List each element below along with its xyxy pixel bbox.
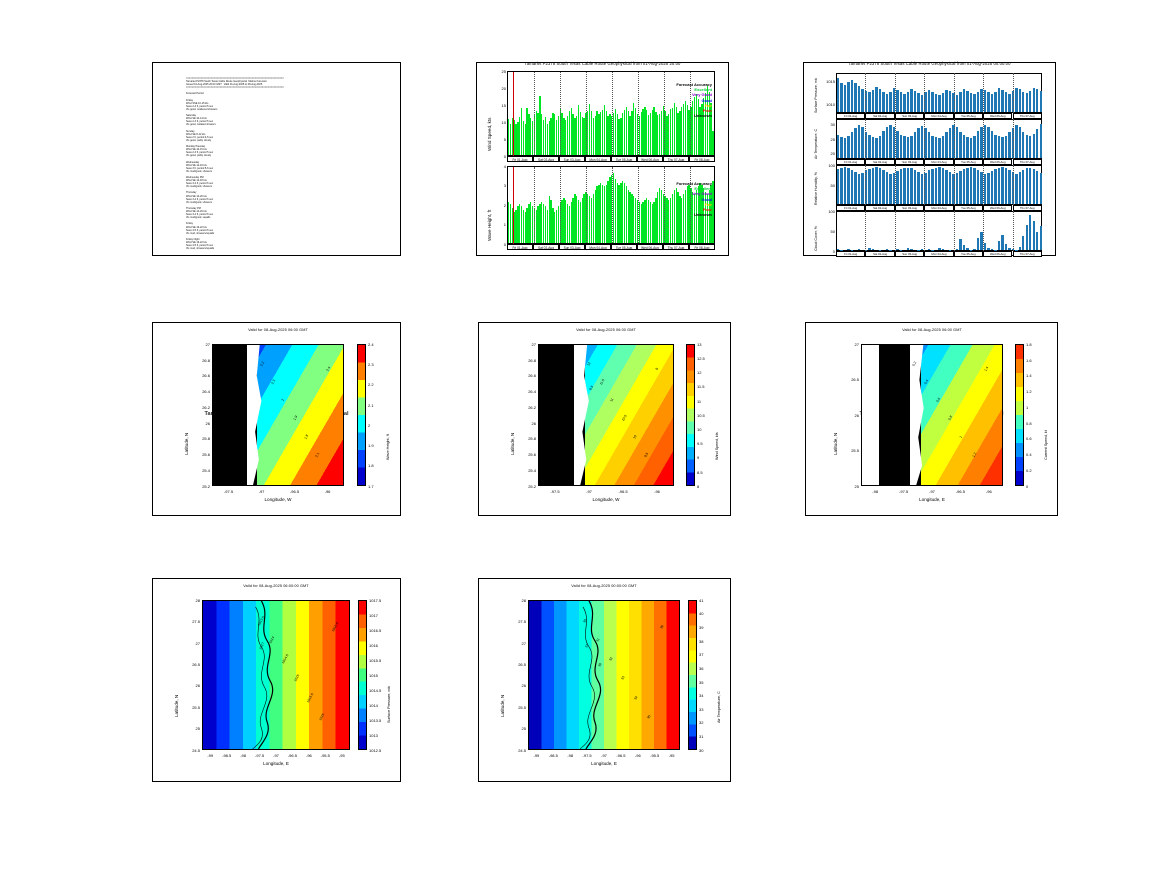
colorbar-tick: 9.5 (697, 441, 703, 446)
bar (837, 169, 839, 204)
bar (837, 78, 839, 112)
bar (844, 85, 846, 112)
ytick: 24.5 (512, 748, 526, 753)
relative-humidity-chart-ylabel: Relative Humidity, % (814, 172, 818, 205)
bar (938, 167, 940, 204)
day-divider (865, 119, 866, 159)
xtick: -97 (581, 489, 597, 494)
surface-pressure-chart (836, 73, 1042, 113)
bar (851, 170, 853, 204)
ytick: 1015 (819, 79, 835, 84)
wind-speed-axes: Forecast Accuracy Excellent Very Good Go… (507, 71, 715, 156)
bar (861, 173, 863, 204)
bar (1015, 88, 1017, 112)
day-divider (895, 119, 896, 159)
colorbar-tick: 2 (368, 423, 370, 428)
xtick: -96.5 (613, 753, 629, 758)
bar (840, 168, 842, 204)
colorbar-tick: 11.5 (697, 384, 705, 389)
day-label-box: Mon 04-Aug (585, 156, 611, 162)
bar (963, 135, 965, 158)
bar (970, 93, 972, 112)
bar (854, 128, 856, 158)
wind-speed-map-title: Valid for 08-Aug-2025 06:00 GMT (508, 328, 704, 332)
bar (998, 136, 1000, 158)
bar (1026, 93, 1028, 112)
day-label-box: Fri 01-Aug (507, 156, 533, 162)
forecast-accuracy-legend-wave: Forecast Accuracy Excellent Very Good Go… (652, 181, 712, 217)
day-divider (954, 211, 955, 251)
ytick: 26.2 (196, 405, 210, 410)
xtick: -97 (254, 489, 270, 494)
bar (907, 248, 909, 250)
bar (949, 91, 951, 112)
xtick: -96.5 (287, 489, 303, 494)
ytick: 27 (196, 342, 210, 347)
bar (886, 94, 888, 112)
bar (858, 249, 860, 250)
ytick: 25.2 (196, 484, 210, 489)
bar (1001, 235, 1003, 250)
colorbar-tick: 1.9 (368, 443, 374, 448)
day-divider (865, 165, 866, 205)
bar (973, 168, 975, 204)
day-divider (924, 73, 925, 113)
ytick: 25.6 (522, 452, 536, 457)
bar (928, 132, 930, 158)
ytick: 26.5 (845, 377, 859, 382)
wind-speed-map-colorbar (686, 344, 695, 486)
xtick: -97.5 (221, 489, 237, 494)
ytick: 25 (495, 69, 506, 74)
day-label-box: Sun 03-Aug (895, 251, 924, 257)
day-label-box: Mon 04-Aug (924, 251, 953, 257)
ytick: 26 (512, 683, 526, 688)
bar (963, 245, 965, 250)
ytick: 26.2 (522, 405, 536, 410)
ytick: 25.5 (845, 448, 859, 453)
bar (998, 88, 1000, 112)
wave-height-axes: Forecast Accuracy Excellent Very Good Go… (507, 166, 715, 244)
bar (928, 249, 930, 250)
ytick: 26 (522, 421, 536, 426)
day-label-box: Thu 07-Aug (1013, 159, 1042, 165)
colorbar-tick: 10 (697, 427, 701, 432)
wind-speed-map-xlabel: Longitude, W (538, 497, 674, 502)
colorbar-tick: 40 (699, 611, 703, 616)
ytick: 26 (186, 683, 200, 688)
bar (1033, 88, 1035, 112)
colorbar-tick: 1017.5 (369, 598, 381, 603)
day-label-box: Thu 07-Aug (663, 156, 689, 162)
air-temperature-map-xlabel: Longitude, E (528, 761, 680, 766)
bar (991, 249, 993, 250)
bar (1022, 92, 1024, 112)
bar (886, 249, 888, 250)
xtick: -97 (268, 753, 284, 758)
bar (1026, 225, 1028, 250)
xtick: -98 (562, 753, 578, 758)
ytick: 25.2 (522, 484, 536, 489)
day-divider (1013, 165, 1014, 205)
xtick: -96.5 (284, 753, 300, 758)
day-divider (1013, 73, 1014, 113)
bar (991, 94, 993, 112)
colorbar-tick: 1016 (369, 643, 378, 648)
bar (837, 135, 839, 158)
colorbar-tick: 10.5 (697, 413, 705, 418)
bar (854, 83, 856, 112)
bar (942, 168, 944, 204)
bar (896, 131, 898, 158)
day-label-box: Fri 01-Aug (507, 244, 533, 250)
current-speed-map-title: Valid for 08-Aug-2025 06:00 GMT (831, 328, 1033, 332)
legend-item-unknown-2: Unknown (652, 212, 712, 217)
bar (844, 138, 846, 158)
ytick: 27.5 (186, 619, 200, 624)
bar (1029, 136, 1031, 158)
colorbar-tick: 1.6 (1026, 358, 1032, 363)
ytick: 25 (186, 726, 200, 731)
bar (910, 249, 912, 250)
surface-pressure-map-content: Valid for 08-Aug-2025 06:00:00 GMTTamari… (152, 578, 401, 782)
colorbar-tick: 34 (699, 693, 703, 698)
bar (907, 168, 909, 204)
bar (914, 91, 916, 112)
bar (956, 95, 958, 112)
day-label-box: Wed 06-Aug (983, 251, 1012, 257)
bar (938, 95, 940, 112)
bar (903, 94, 905, 112)
ytick: 1 (495, 222, 506, 227)
colorbar-tick: 2.4 (368, 342, 374, 347)
coastline-path (529, 601, 679, 749)
bar (858, 125, 860, 158)
day-divider (865, 211, 866, 251)
colorbar-tick: 1013 (369, 733, 378, 738)
ytick: 0 (819, 249, 835, 254)
ytick: 20 (819, 151, 835, 156)
wind-speed-map-cbar-label: Wind Speed, kts (715, 433, 719, 461)
bar (1036, 232, 1038, 250)
bar (1022, 132, 1024, 158)
bar (1019, 247, 1021, 250)
bar (858, 174, 860, 204)
day-divider (586, 167, 587, 245)
bar (872, 249, 874, 250)
surface-pressure-map-title: Valid for 08-Aug-2025 06:00:00 GMT (172, 584, 380, 588)
bar (896, 249, 898, 250)
colorbar-tick: 30 (699, 748, 703, 753)
ytick: 25 (819, 137, 835, 142)
ytick: 2 (495, 203, 506, 208)
day-divider (1013, 211, 1014, 251)
bar (840, 83, 842, 112)
colorbar-tick: 1015.5 (369, 658, 381, 663)
xtick: -96 (320, 489, 336, 494)
day-divider (983, 165, 984, 205)
bar (858, 86, 860, 112)
ytick: 100 (819, 209, 835, 214)
bar (945, 90, 947, 112)
bar (1040, 226, 1042, 250)
ytick: 26.6 (522, 373, 536, 378)
bar (868, 248, 870, 250)
xtick: -95.5 (647, 753, 663, 758)
day-label-box: Sat 02-Aug (865, 159, 894, 165)
bar (949, 128, 951, 158)
ytick: 25.6 (196, 452, 210, 457)
ytick: 27 (522, 342, 536, 347)
bar (1033, 221, 1035, 250)
bar (872, 168, 874, 204)
ytick: 30 (819, 122, 835, 127)
day-divider (534, 167, 535, 245)
colorbar-tick: 13 (697, 342, 701, 347)
bar (910, 168, 912, 204)
colorbar-tick: 0.2 (1026, 468, 1032, 473)
day-label-box: Wed 06-Aug (983, 205, 1012, 211)
bar (854, 172, 856, 204)
bar (914, 132, 916, 158)
day-label-box: Fri 08-Aug (689, 156, 715, 162)
bar (1015, 125, 1017, 158)
bar (879, 89, 881, 112)
bar (844, 167, 846, 204)
wind-wave-timeseries-panel: Tamariet P2378 South Texas Cable Route G… (476, 62, 729, 256)
wave-height-map-ylabel: Latitude, N (184, 433, 189, 455)
bar (868, 92, 870, 112)
cloud-cover-chart-ylabel: Cloud Cover, % (814, 226, 818, 251)
bar (970, 167, 972, 204)
current-speed-map-ylabel: Latitude, N (833, 433, 838, 455)
bar (1022, 170, 1024, 204)
wave-height-map-plot: 2.22.321.91.82.12.4 (212, 344, 344, 486)
ytick: 1010 (819, 102, 835, 107)
bar (1008, 248, 1010, 250)
day-divider (560, 167, 561, 245)
day-label-box: Sat 02-Aug (865, 113, 894, 119)
bar (1040, 124, 1042, 158)
day-divider (954, 73, 955, 113)
day-label-box: Tue 05-Aug (954, 113, 983, 119)
colorbar-tick: 9 (697, 455, 699, 460)
colorbar-tick: 1015 (369, 673, 378, 678)
wind-speed-map-plot: 1211.51110.5109.598.5 (538, 344, 674, 486)
current-speed-map-cbar-label: Current Speed, kt (1044, 431, 1048, 461)
colorbar-tick: 1012.5 (369, 748, 381, 753)
xtick: -96 (630, 753, 646, 758)
ytick: 26.5 (186, 662, 200, 667)
colorbar-tick: 1014 (369, 703, 378, 708)
bar (998, 168, 1000, 204)
ytick: 10 (495, 120, 506, 125)
forecast-text-body: ========================================… (186, 77, 284, 250)
bar (889, 92, 891, 112)
day-label-box: Thu 07-Aug (1013, 113, 1042, 119)
bar (977, 238, 979, 250)
ytick: 0 (495, 242, 506, 247)
bar (1019, 172, 1021, 204)
air-temperature-chart-ylabel: Air Temperature, C (814, 129, 818, 159)
bar (973, 94, 975, 112)
bar (861, 127, 863, 158)
ytick: 25.8 (196, 436, 210, 441)
bar (938, 248, 940, 250)
bar (847, 136, 849, 158)
bar (942, 93, 944, 112)
bar (861, 89, 863, 112)
xtick: -95.5 (317, 753, 333, 758)
bar (872, 90, 874, 112)
air-temperature-map-plot: 303132333435363738 (528, 600, 680, 750)
bar (1029, 91, 1031, 112)
bar (1036, 89, 1038, 112)
day-divider (954, 119, 955, 159)
xtick: -97 (596, 753, 612, 758)
colorbar-tick: 1.8 (368, 463, 374, 468)
bar (959, 239, 961, 250)
bar (966, 168, 968, 204)
day-label-box: Fri 01-Aug (836, 205, 865, 211)
bar (1036, 171, 1038, 204)
ytick: 27 (512, 641, 526, 646)
day-label-box: Mon 04-Aug (585, 244, 611, 250)
surface-pressure-map-colorbar (358, 600, 367, 750)
bar (900, 92, 902, 112)
timeseries-title: Tamariet P2378 South Texas Cable Route G… (477, 61, 728, 66)
colorbar-tick: 8 (697, 484, 699, 489)
coastline-path (203, 601, 349, 749)
xtick: -97.5 (547, 489, 563, 494)
legend-item-unknown: Unknown (652, 113, 712, 118)
day-divider (534, 72, 535, 157)
bar (1005, 92, 1007, 112)
day-label-box: Sun 03-Aug (895, 159, 924, 165)
current-speed-map-content: Valid for 08-Aug-2025 06:00 GMTTamariet … (805, 322, 1058, 516)
ytick: 24.5 (186, 748, 200, 753)
bar (1029, 215, 1031, 250)
bar (917, 93, 919, 112)
day-label-box: Mon 04-Aug (924, 159, 953, 165)
forecast-accuracy-legend-wind: Forecast Accuracy Excellent Very Good Go… (652, 82, 712, 118)
day-label-box: Thu 07-Aug (663, 244, 689, 250)
bar (987, 248, 989, 250)
colorbar-tick: 33 (699, 707, 703, 712)
wave-height-map-content: Valid for 08-Aug-2025 06:00 GMTTamariet … (152, 322, 401, 516)
cloud-cover-chart (836, 211, 1042, 251)
day-divider (612, 72, 613, 157)
air-temperature-map-ylabel: Latitude, N (500, 695, 505, 717)
bar (966, 91, 968, 112)
bar (998, 241, 1000, 250)
bar (875, 138, 877, 158)
bar (914, 170, 916, 204)
bar (900, 135, 902, 158)
colorbar-tick: 2.3 (368, 362, 374, 367)
ytick: 28 (512, 598, 526, 603)
bar (879, 168, 881, 204)
bar (889, 174, 891, 204)
bar (1036, 129, 1038, 158)
ytick: 50 (819, 229, 835, 234)
bar (879, 136, 881, 158)
bar (935, 94, 937, 112)
colorbar-tick: 11 (697, 399, 701, 404)
bar (917, 172, 919, 204)
bar (991, 131, 993, 158)
bar (1040, 173, 1042, 204)
day-divider (865, 73, 866, 113)
colorbar-tick: 2.2 (368, 382, 374, 387)
day-divider (612, 167, 613, 245)
bar (963, 89, 965, 112)
bar (882, 92, 884, 112)
bar (1019, 127, 1021, 158)
day-label-box: Tue 05-Aug (954, 159, 983, 165)
bar (907, 92, 909, 112)
day-label-box: Mon 04-Aug (924, 113, 953, 119)
bar (875, 87, 877, 112)
bar (966, 248, 968, 250)
day-label-box: Wed 06-Aug (637, 156, 663, 162)
ytick: 27.5 (512, 619, 526, 624)
day-divider (586, 72, 587, 157)
day-divider (1013, 119, 1014, 159)
bar (949, 172, 951, 204)
xtick: -96 (649, 489, 665, 494)
colorbar-tick: 1017 (369, 613, 378, 618)
ytick: 26.5 (512, 662, 526, 667)
bar (935, 137, 937, 158)
bar (931, 92, 933, 112)
bar (872, 137, 874, 158)
wave-height-map-colorbar (357, 344, 366, 486)
bar (847, 168, 849, 204)
bar (991, 171, 993, 204)
colorbar-tick: 41 (699, 598, 703, 603)
bar (896, 90, 898, 112)
bar (910, 136, 912, 158)
day-label-box: Fri 01-Aug (836, 251, 865, 257)
colorbar-tick: 1014.5 (369, 688, 381, 693)
ytick: 27 (845, 342, 859, 347)
day-label-box: Mon 04-Aug (924, 205, 953, 211)
ytick: 28 (186, 598, 200, 603)
ytick: 25.5 (186, 705, 200, 710)
colorbar-tick: 12.5 (697, 356, 705, 361)
bar (1001, 137, 1003, 158)
colorbar-tick: 0 (1026, 484, 1028, 489)
colorbar-tick: 1.2 (1026, 389, 1032, 394)
bar (973, 136, 975, 158)
bar (1033, 134, 1035, 158)
bar (966, 137, 968, 158)
xtick: -96 (981, 489, 997, 494)
bar (1008, 132, 1010, 158)
ytick: 25.8 (522, 436, 536, 441)
colorbar-tick: 1.4 (1026, 373, 1032, 378)
wave-height-map-title: Valid for 08-Aug-2025 06:00 GMT (182, 328, 374, 332)
colorbar-tick: 0.8 (1026, 421, 1032, 426)
bar (837, 249, 839, 250)
xtick: -95 (664, 753, 680, 758)
bar (963, 169, 965, 204)
bar (945, 132, 947, 158)
day-label-box: Fri 01-Aug (836, 159, 865, 165)
bar (973, 249, 975, 250)
xtick: -96.5 (952, 489, 968, 494)
